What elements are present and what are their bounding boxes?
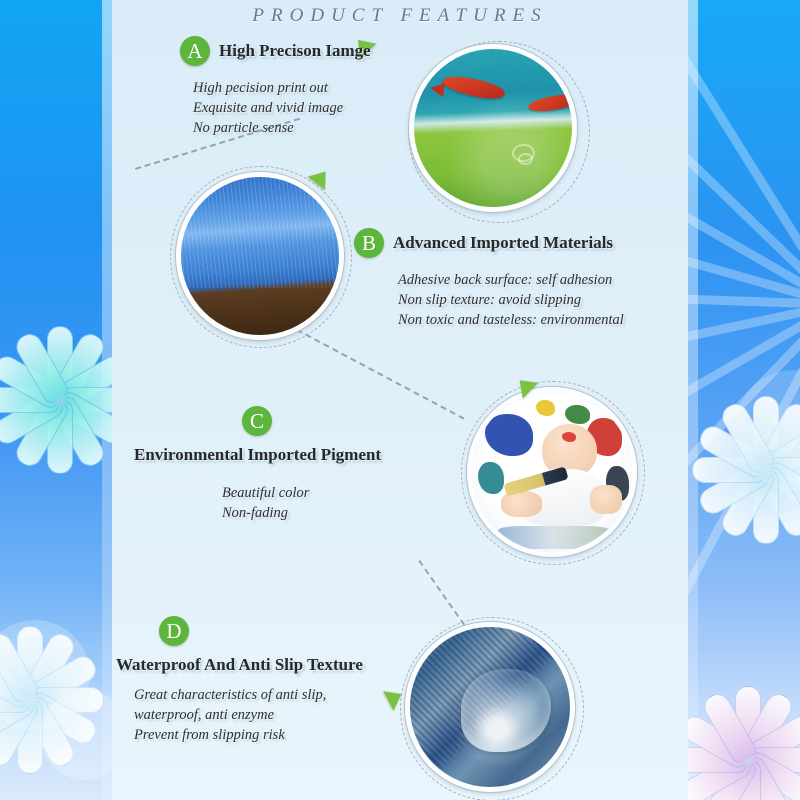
feature-b-heading: Advanced Imported Materials — [393, 233, 613, 253]
feature-c-line-2: Non-fading — [222, 503, 381, 523]
right-decorative-border — [688, 0, 800, 800]
feature-c-line-1: Beautiful color — [222, 483, 381, 503]
feature-b-badge: B — [354, 228, 384, 258]
koi-fish-icon-2 — [527, 93, 577, 114]
paint-splatter-teal — [478, 462, 504, 494]
feature-d-line-3: Prevent from slipping risk — [134, 725, 363, 745]
feature-b-line-2: Non slip texture: avoid slipping — [398, 290, 624, 310]
feature-a-body: High pecision print out Exquisite and vi… — [193, 78, 371, 138]
photo-b-blue-fabric — [176, 172, 344, 340]
paint-dot-forehead — [562, 432, 576, 442]
feature-c-badge: C — [242, 406, 272, 436]
left-decorative-border — [0, 0, 112, 800]
feature-a-heading: High Precison Iamge — [219, 41, 371, 61]
page-title: PRODUCT FEATURES — [112, 5, 688, 27]
baby-arm-right — [590, 485, 622, 514]
feature-a-line-2: Exquisite and vivid image — [193, 98, 371, 118]
paint-splatter-blue — [485, 414, 533, 456]
feature-b-line-3: Non toxic and tasteless: environmental — [398, 310, 624, 330]
feature-block-d: D Waterproof And Anti Slip Texture Great… — [112, 616, 363, 745]
feature-block-b: B Advanced Imported Materials Adhesive b… — [354, 228, 624, 330]
feature-d-heading: Waterproof And Anti Slip Texture — [116, 655, 363, 675]
photo-a-koi-fish-lily-pad — [409, 44, 577, 212]
feature-block-c: C Environmental Imported Pigment Beautif… — [134, 406, 381, 523]
content-panel: PRODUCT FEATURES A High Precison Iamge — [112, 0, 688, 800]
koi-fish-lily-pad-photo — [414, 49, 572, 207]
feature-a-header: A High Precison Iamge — [180, 36, 371, 66]
water-ripple-icon-2 — [518, 153, 533, 165]
feature-d-body: Great characteristics of anti slip, wate… — [134, 685, 363, 745]
feature-a-line-1: High pecision print out — [193, 78, 371, 98]
feature-a-badge: A — [180, 36, 210, 66]
paint-splatter-green — [565, 405, 591, 424]
product-features-poster: PRODUCT FEATURES A High Precison Iamge — [0, 0, 800, 800]
feature-block-a: A High Precison Iamge High pecision prin… — [180, 36, 371, 138]
paint-splatter-yellow — [536, 400, 555, 416]
koi-tail-icon — [429, 81, 445, 97]
feature-b-body: Adhesive back surface: self adhesion Non… — [398, 270, 624, 330]
paint-floor-smear — [498, 526, 610, 548]
baby-painting-photo — [472, 392, 632, 552]
blue-fabric-roll-photo — [181, 177, 339, 335]
feature-d-badge: D — [159, 616, 189, 646]
feature-b-line-1: Adhesive back surface: self adhesion — [398, 270, 624, 290]
fabric-weave-texture — [181, 177, 339, 288]
photo-d-water-droplet — [405, 622, 575, 792]
photo-c-baby-painting — [467, 387, 637, 557]
right-border-edge-highlight — [688, 0, 698, 800]
feature-c-heading: Environmental Imported Pigment — [134, 445, 381, 465]
feature-d-line-1: Great characteristics of anti slip, — [134, 685, 363, 705]
feature-c-body: Beautiful color Non-fading — [222, 483, 381, 523]
koi-fish-icon — [441, 72, 507, 104]
feature-d-line-2: waterproof, anti enzyme — [134, 705, 363, 725]
water-droplet-texture-photo — [410, 627, 570, 787]
feature-a-line-3: No particle sense — [193, 118, 371, 138]
feature-b-header: B Advanced Imported Materials — [354, 228, 624, 258]
